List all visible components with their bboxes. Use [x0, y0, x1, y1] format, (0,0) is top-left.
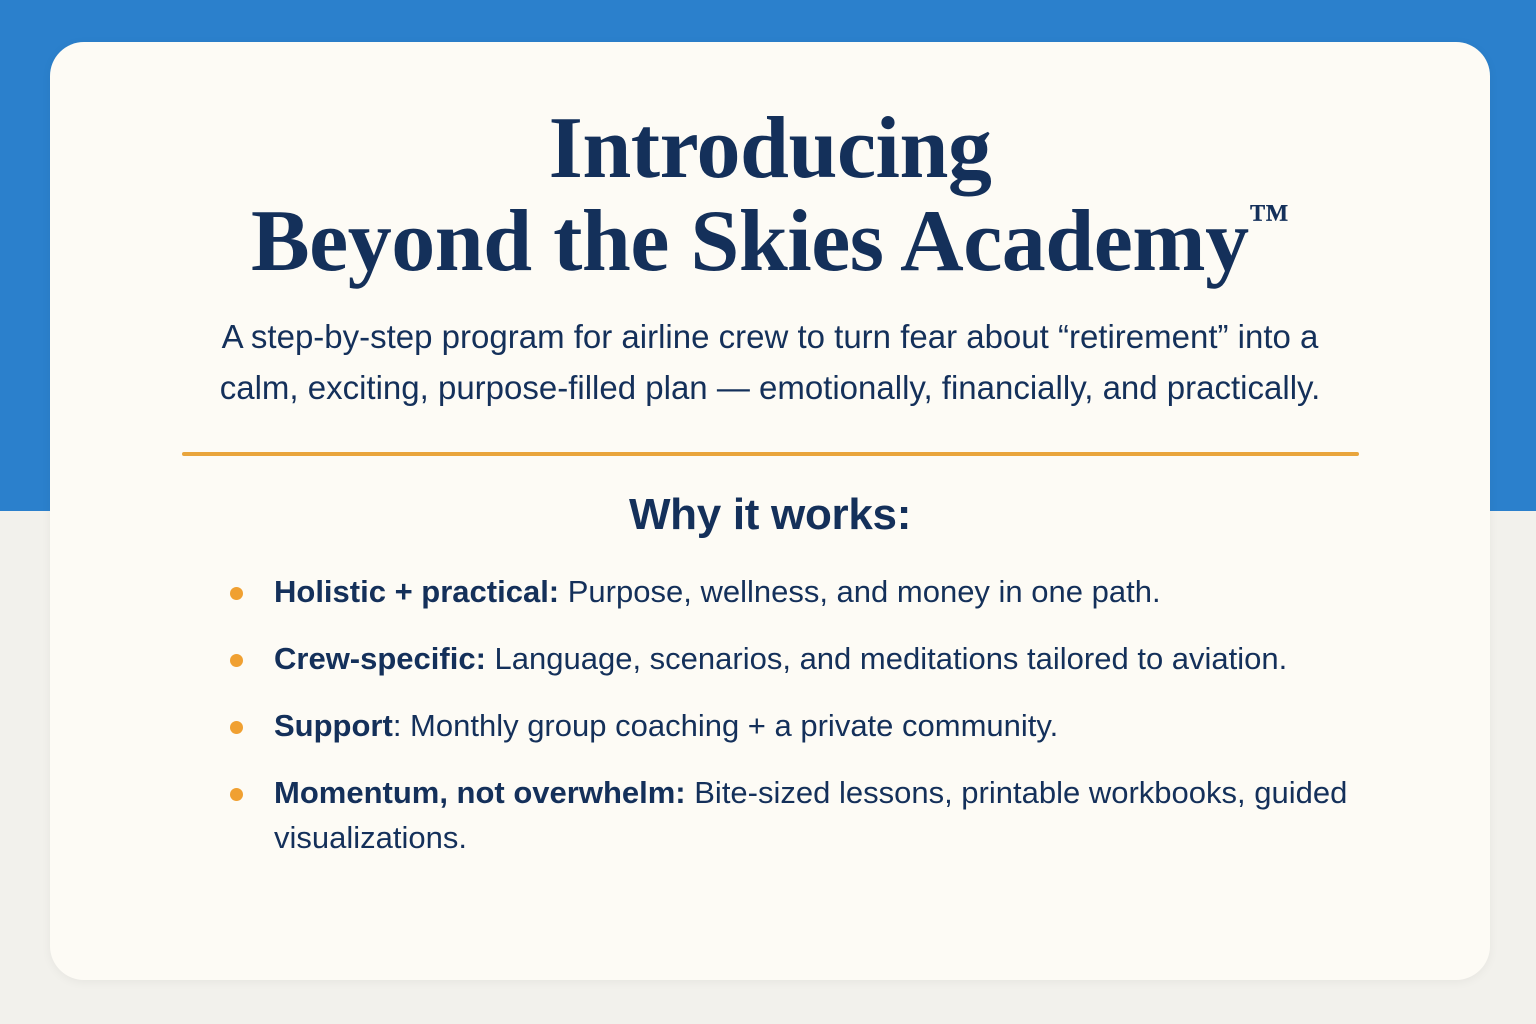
title-line-2: Beyond the Skies Academy™: [128, 195, 1412, 288]
bullet-dot-icon: [230, 587, 243, 600]
page-title: Introducing Beyond the Skies Academy™: [128, 42, 1412, 289]
why-it-works-list: Holistic + practical: Purpose, wellness,…: [128, 570, 1412, 861]
list-item-lead: Crew-specific:: [274, 641, 486, 676]
list-item-rest: Purpose, wellness, and money in one path…: [559, 574, 1160, 609]
title-line-1: Introducing: [128, 102, 1412, 195]
section-heading: Why it works:: [128, 490, 1412, 540]
orange-divider: [182, 452, 1359, 456]
title-line-2-text: Beyond the Skies Academy: [251, 193, 1249, 290]
list-item-lead: Holistic + practical:: [274, 574, 559, 609]
bullet-dot-icon: [230, 721, 243, 734]
list-item-lead: Support: [274, 708, 393, 743]
list-item: Momentum, not overwhelm: Bite-sized less…: [230, 771, 1412, 861]
list-item: Crew-specific: Language, scenarios, and …: [230, 637, 1412, 682]
trademark-symbol: ™: [1249, 196, 1289, 241]
content-card: Introducing Beyond the Skies Academy™ A …: [50, 42, 1490, 980]
list-item: Support: Monthly group coaching + a priv…: [230, 704, 1412, 749]
list-item-rest: : Monthly group coaching + a private com…: [393, 708, 1058, 743]
subtitle: A step-by-step program for airline crew …: [195, 311, 1345, 415]
list-item-rest: Language, scenarios, and meditations tai…: [486, 641, 1287, 676]
bullet-dot-icon: [230, 788, 243, 801]
slide-page: Introducing Beyond the Skies Academy™ A …: [0, 0, 1536, 1024]
list-item: Holistic + practical: Purpose, wellness,…: [230, 570, 1412, 615]
list-item-lead: Momentum, not overwhelm:: [274, 775, 686, 810]
bullet-dot-icon: [230, 654, 243, 667]
